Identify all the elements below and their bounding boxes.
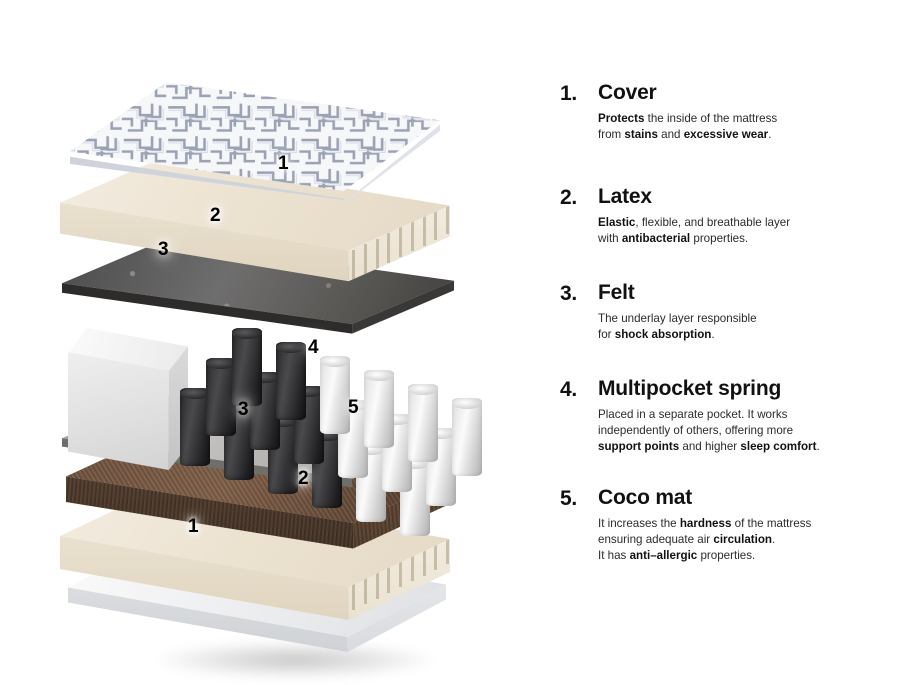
legend-title-multipocket-spring: Multipocket spring	[598, 378, 890, 400]
legend-desc-coco-mat: It increases the hardness of the mattres…	[598, 516, 890, 564]
callout-spring: 4	[308, 338, 319, 357]
latex-rib	[352, 250, 355, 280]
legend-desc-multipocket-spring: Placed in a separate pocket. It worksind…	[598, 407, 890, 455]
cover-geometric-pattern-icon	[70, 80, 440, 192]
legend-title-latex: Latex	[598, 186, 890, 208]
latex-rib	[423, 216, 426, 246]
callout-latex-top: 2	[210, 206, 221, 225]
latex-rib	[376, 239, 379, 269]
spring-pocket-dark	[232, 328, 262, 406]
legend-item-latex: 2. Latex Elastic, flexible, and breathab…	[560, 186, 890, 247]
latex-rib	[399, 227, 402, 257]
legend-desc-cover: Protects the inside of the mattressfrom …	[598, 111, 890, 143]
legend-desc-felt: The underlay layer responsiblefor shock …	[598, 311, 890, 343]
legend-number-1: 1.	[560, 82, 592, 106]
spring-pocket-cap	[320, 356, 350, 367]
callout-felt-top: 3	[158, 240, 169, 259]
latex-rib	[411, 221, 414, 251]
latex-rib	[387, 233, 390, 263]
spring-pocket-cap	[452, 398, 482, 409]
spring-pocket-cap	[364, 370, 394, 381]
spring-pocket-cap	[276, 342, 306, 353]
cover-top-fabric-face	[70, 80, 440, 192]
callout-felt-bottom: 3	[238, 400, 249, 419]
legend-title-cover: Cover	[598, 82, 890, 104]
callout-cover-base: 1	[188, 517, 199, 536]
latex-rib	[446, 204, 449, 234]
spring-pocket-light	[364, 370, 394, 448]
legend-item-cover: 1. Cover Protects the inside of the matt…	[560, 82, 890, 143]
spring-pocket-cap	[232, 328, 262, 339]
legend-number-2: 2.	[560, 186, 592, 210]
mattress-exploded-diagram: 1 2 3 4 3 5 2 1	[60, 80, 480, 600]
legend-number-3: 3.	[560, 282, 592, 306]
legend-title-coco-mat: Coco mat	[598, 487, 890, 509]
legend-number-5: 5.	[560, 487, 592, 511]
spring-pocket-dark	[276, 342, 306, 420]
legend-number-4: 4.	[560, 378, 592, 402]
legend-item-coco-mat: 5. Coco mat It increases the hardness of…	[560, 487, 890, 564]
spring-pocket-light	[320, 356, 350, 434]
latex-rib	[364, 244, 367, 274]
callout-coco-mat: 5	[348, 398, 359, 417]
legend-item-felt: 3. Felt The underlay layer responsiblefo…	[560, 282, 890, 343]
callout-latex-bottom: 2	[298, 469, 309, 488]
spring-pocket-cap	[408, 384, 438, 395]
callout-cover-top: 1	[278, 154, 289, 173]
legend-item-multipocket-spring: 4. Multipocket spring Placed in a separa…	[560, 378, 890, 455]
latex-rib	[434, 210, 437, 240]
legend-title-felt: Felt	[598, 282, 890, 304]
spring-pocket-light	[408, 384, 438, 462]
layer-cover-top	[70, 80, 440, 200]
legend-desc-latex: Elastic, flexible, and breathable layerw…	[598, 215, 890, 247]
page-canvas: 1 2 3 4 3 5 2 1 1. Cover Protects the in…	[0, 0, 900, 675]
spring-pocket-light	[452, 398, 482, 476]
